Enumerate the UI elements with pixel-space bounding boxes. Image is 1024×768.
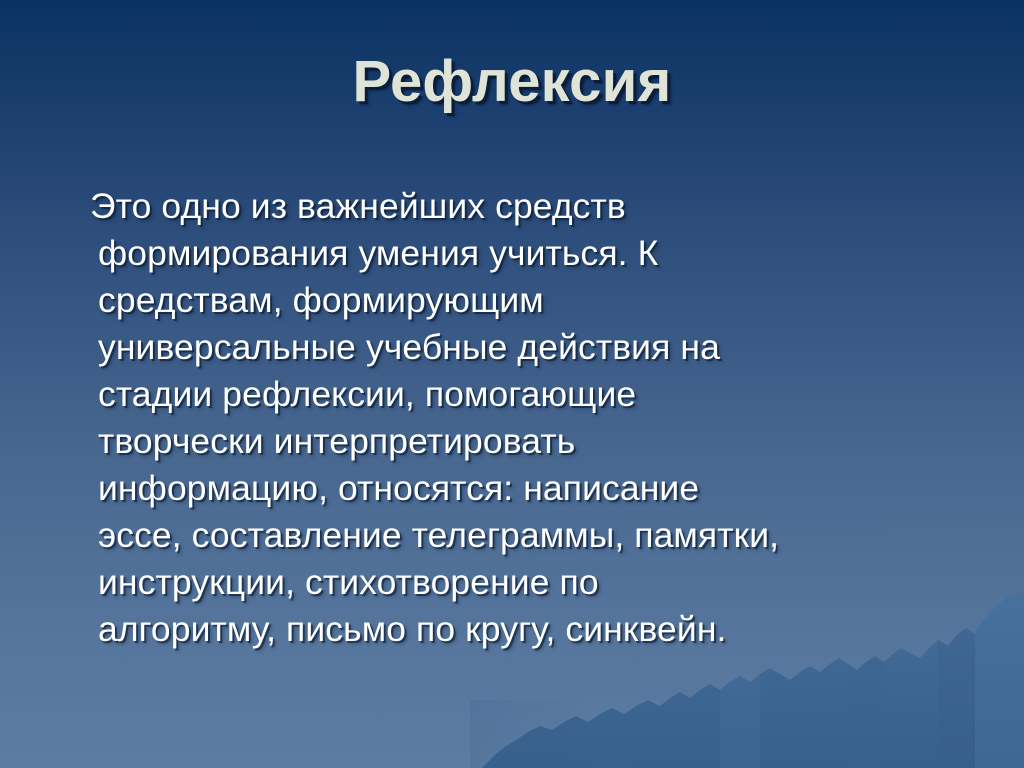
body-line: формирования умения учиться. К xyxy=(78,230,978,277)
page-title: Рефлексия xyxy=(353,52,672,113)
body-line: информацию, относятся: написание xyxy=(78,465,978,512)
body-line: Это одно из важнейших средств xyxy=(78,183,978,230)
body-line: универсальные учебные действия на xyxy=(78,324,978,371)
body-line: инструкции, стихотворение по xyxy=(78,559,978,606)
body-line: средствам, формирующим xyxy=(78,277,978,324)
body-paragraph: Это одно из важнейших средств формирован… xyxy=(78,183,978,653)
mountain-shade-band xyxy=(975,592,1024,768)
title-block: Рефлексия xyxy=(0,52,1024,113)
body-line: творчески интерпретировать xyxy=(78,418,978,465)
mountain-shade-band-3 xyxy=(848,656,884,768)
mountain-shade-band-5 xyxy=(588,706,636,768)
body-line: стадии рефлексии, помогающие xyxy=(78,371,978,418)
body-line: эссе, составление телеграммы, памятки, xyxy=(78,512,978,559)
presentation-slide: Рефлексия Это одно из важнейших средств … xyxy=(0,0,1024,768)
body-line: алгоритму, письмо по кругу, синквейн. xyxy=(78,606,978,653)
mountain-left-falloff xyxy=(470,700,590,768)
body-block: Это одно из важнейших средств формирован… xyxy=(78,183,978,653)
mountain-shade-band-4 xyxy=(720,674,760,768)
